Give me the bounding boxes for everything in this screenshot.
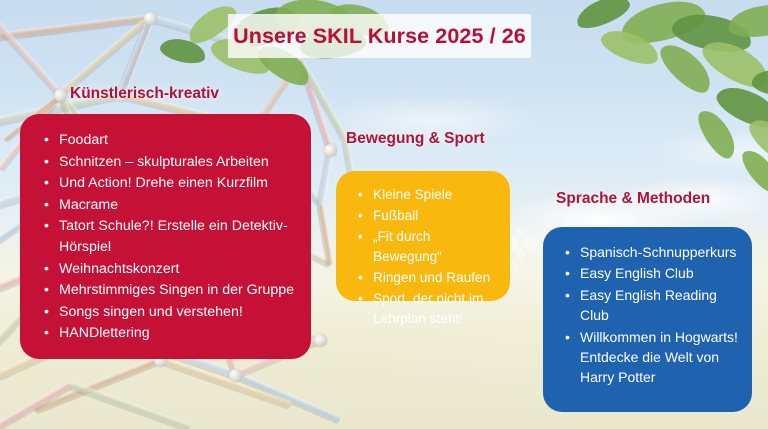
card-heading-bewegung-sport: Bewegung & Sport: [346, 130, 485, 148]
card-heading-kuenstlerisch-kreativ: Künstlerisch-kreativ: [70, 85, 219, 103]
slide-canvas: Unsere SKIL Kurse 2025 / 26 Künstlerisch…: [0, 0, 768, 429]
course-item: HANDlettering: [42, 323, 295, 344]
course-item: Sport, der nicht im Lehrplan steht!: [356, 289, 498, 329]
course-item: Easy English Club: [563, 263, 738, 283]
course-item: Willkommen in Hogwarts! Entdecke die Wel…: [563, 327, 738, 388]
course-item: Fußball: [356, 206, 498, 226]
card-bewegung-sport: Kleine SpieleFußball„Fit durch Bewegung“…: [336, 171, 510, 301]
course-item: Tatort Schule?! Erstelle ein Detektiv-Hö…: [42, 216, 295, 257]
course-item: Weihnachtskonzert: [42, 259, 295, 280]
slide-title: Unsere SKIL Kurse 2025 / 26: [233, 24, 526, 49]
card-heading-sprache-methoden: Sprache & Methoden: [556, 190, 710, 208]
title-banner: Unsere SKIL Kurse 2025 / 26: [228, 14, 531, 58]
course-list-bewegung-sport: Kleine SpieleFußball„Fit durch Bewegung“…: [356, 185, 498, 329]
course-list-kuenstlerisch-kreativ: FoodartSchnitzen – skulpturales Arbeiten…: [42, 130, 295, 344]
course-item: Schnitzen – skulpturales Arbeiten: [42, 152, 295, 173]
course-list-sprache-methoden: Spanisch-SchnupperkursEasy English ClubE…: [563, 242, 738, 388]
course-item: Mehrstimmiges Singen in der Gruppe: [42, 280, 295, 301]
course-item: Foodart: [42, 130, 295, 151]
course-item: „Fit durch Bewegung“: [356, 227, 498, 267]
course-item: Macrame: [42, 195, 295, 216]
course-item: Und Action! Drehe einen Kurzfilm: [42, 173, 295, 194]
course-item: Kleine Spiele: [356, 185, 498, 205]
course-item: Spanisch-Schnupperkurs: [563, 242, 738, 262]
course-item: Songs singen und verstehen!: [42, 302, 295, 323]
card-sprache-methoden: Spanisch-SchnupperkursEasy English ClubE…: [543, 227, 752, 412]
course-item: Easy English Reading Club: [563, 285, 738, 326]
course-item: Ringen und Raufen: [356, 268, 498, 288]
card-kuenstlerisch-kreativ: FoodartSchnitzen – skulpturales Arbeiten…: [20, 114, 311, 359]
